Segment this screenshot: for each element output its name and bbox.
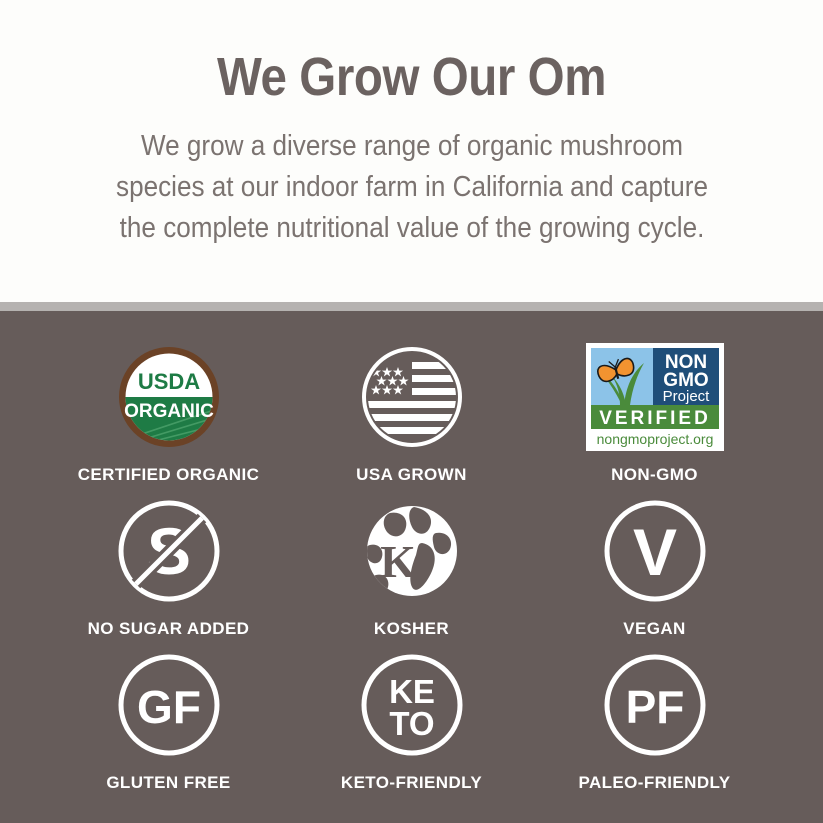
badge-art: USDA ORGANIC (117, 339, 221, 455)
badge-art: GF (117, 647, 221, 763)
hero-section: We Grow Our Om We grow a diverse range o… (0, 0, 823, 302)
badge-art: S (117, 493, 221, 609)
non-gmo-project-verified-icon: NON GMO Project VERIFIED nongmoproject.o… (586, 343, 724, 451)
badge-vegan: V VEGAN (548, 493, 761, 639)
badge-label: KOSHER (374, 619, 449, 639)
badge-gluten-free: GF GLUTEN FREE (62, 647, 275, 793)
usda-seal-top-text: USDA (137, 369, 199, 394)
badge-label: NO SUGAR ADDED (88, 619, 250, 639)
badge-art: KE TO (360, 647, 464, 763)
gluten-free-gf-circle-icon: GF (117, 653, 221, 757)
badge-art (360, 339, 464, 455)
page-root: We Grow Our Om We grow a diverse range o… (0, 0, 823, 823)
vegan-v-circle-icon: V (603, 499, 707, 603)
keto-friendly-circle-icon: KE TO (360, 653, 464, 757)
vegan-glyph: V (632, 515, 676, 589)
certification-badges-section: USDA ORGANIC CERTIFIED ORGANIC (0, 311, 823, 823)
nongmo-verified-text: VERIFIED (599, 408, 711, 429)
badge-label: PALEO-FRIENDLY (578, 773, 730, 793)
badge-keto-friendly: KE TO KETO-FRIENDLY (305, 647, 518, 793)
paleo-glyph: PF (625, 681, 684, 733)
kosher-globe-k-icon: K (360, 499, 464, 603)
page-title: We Grow Our Om (100, 46, 722, 108)
badge-art: PF (603, 647, 707, 763)
badge-row: S NO SUGAR ADDED (62, 493, 761, 639)
section-divider (0, 302, 823, 311)
badge-label: CERTIFIED ORGANIC (78, 465, 260, 485)
usda-organic-seal-icon: USDA ORGANIC (117, 345, 221, 449)
badge-certified-organic: USDA ORGANIC CERTIFIED ORGANIC (62, 339, 275, 485)
badge-art: V (603, 493, 707, 609)
badge-usa-grown: USA GROWN (305, 339, 518, 485)
paleo-friendly-pf-circle-icon: PF (603, 653, 707, 757)
badge-label: NON-GMO (611, 465, 698, 485)
kosher-k-glyph: K (380, 536, 416, 587)
badge-no-sugar-added: S NO SUGAR ADDED (62, 493, 275, 639)
badge-kosher: K KOSHER (305, 493, 518, 639)
keto-glyph-line-2: TO (389, 705, 434, 742)
usa-flag-circle-icon (360, 345, 464, 449)
badge-paleo-friendly: PF PALEO-FRIENDLY (548, 647, 761, 793)
badge-row: USDA ORGANIC CERTIFIED ORGANIC (62, 339, 761, 485)
badge-non-gmo: NON GMO Project VERIFIED nongmoproject.o… (548, 339, 761, 485)
badge-label: GLUTEN FREE (106, 773, 230, 793)
badge-label: KETO-FRIENDLY (341, 773, 482, 793)
no-sugar-added-icon: S (117, 499, 221, 603)
badge-art: K (360, 493, 464, 609)
badge-art: NON GMO Project VERIFIED nongmoproject.o… (586, 339, 724, 455)
hero-subtitle: We grow a diverse range of organic mushr… (97, 126, 727, 249)
nongmo-line-3: Project (662, 388, 710, 405)
badge-row: GF GLUTEN FREE KE TO KETO-FRIENDLY (62, 647, 761, 793)
gluten-free-glyph: GF (137, 681, 201, 733)
badge-label: VEGAN (623, 619, 685, 639)
badge-label: USA GROWN (356, 465, 467, 485)
nongmo-url-text: nongmoproject.org (596, 431, 713, 447)
usda-seal-bottom-text: ORGANIC (124, 401, 214, 422)
